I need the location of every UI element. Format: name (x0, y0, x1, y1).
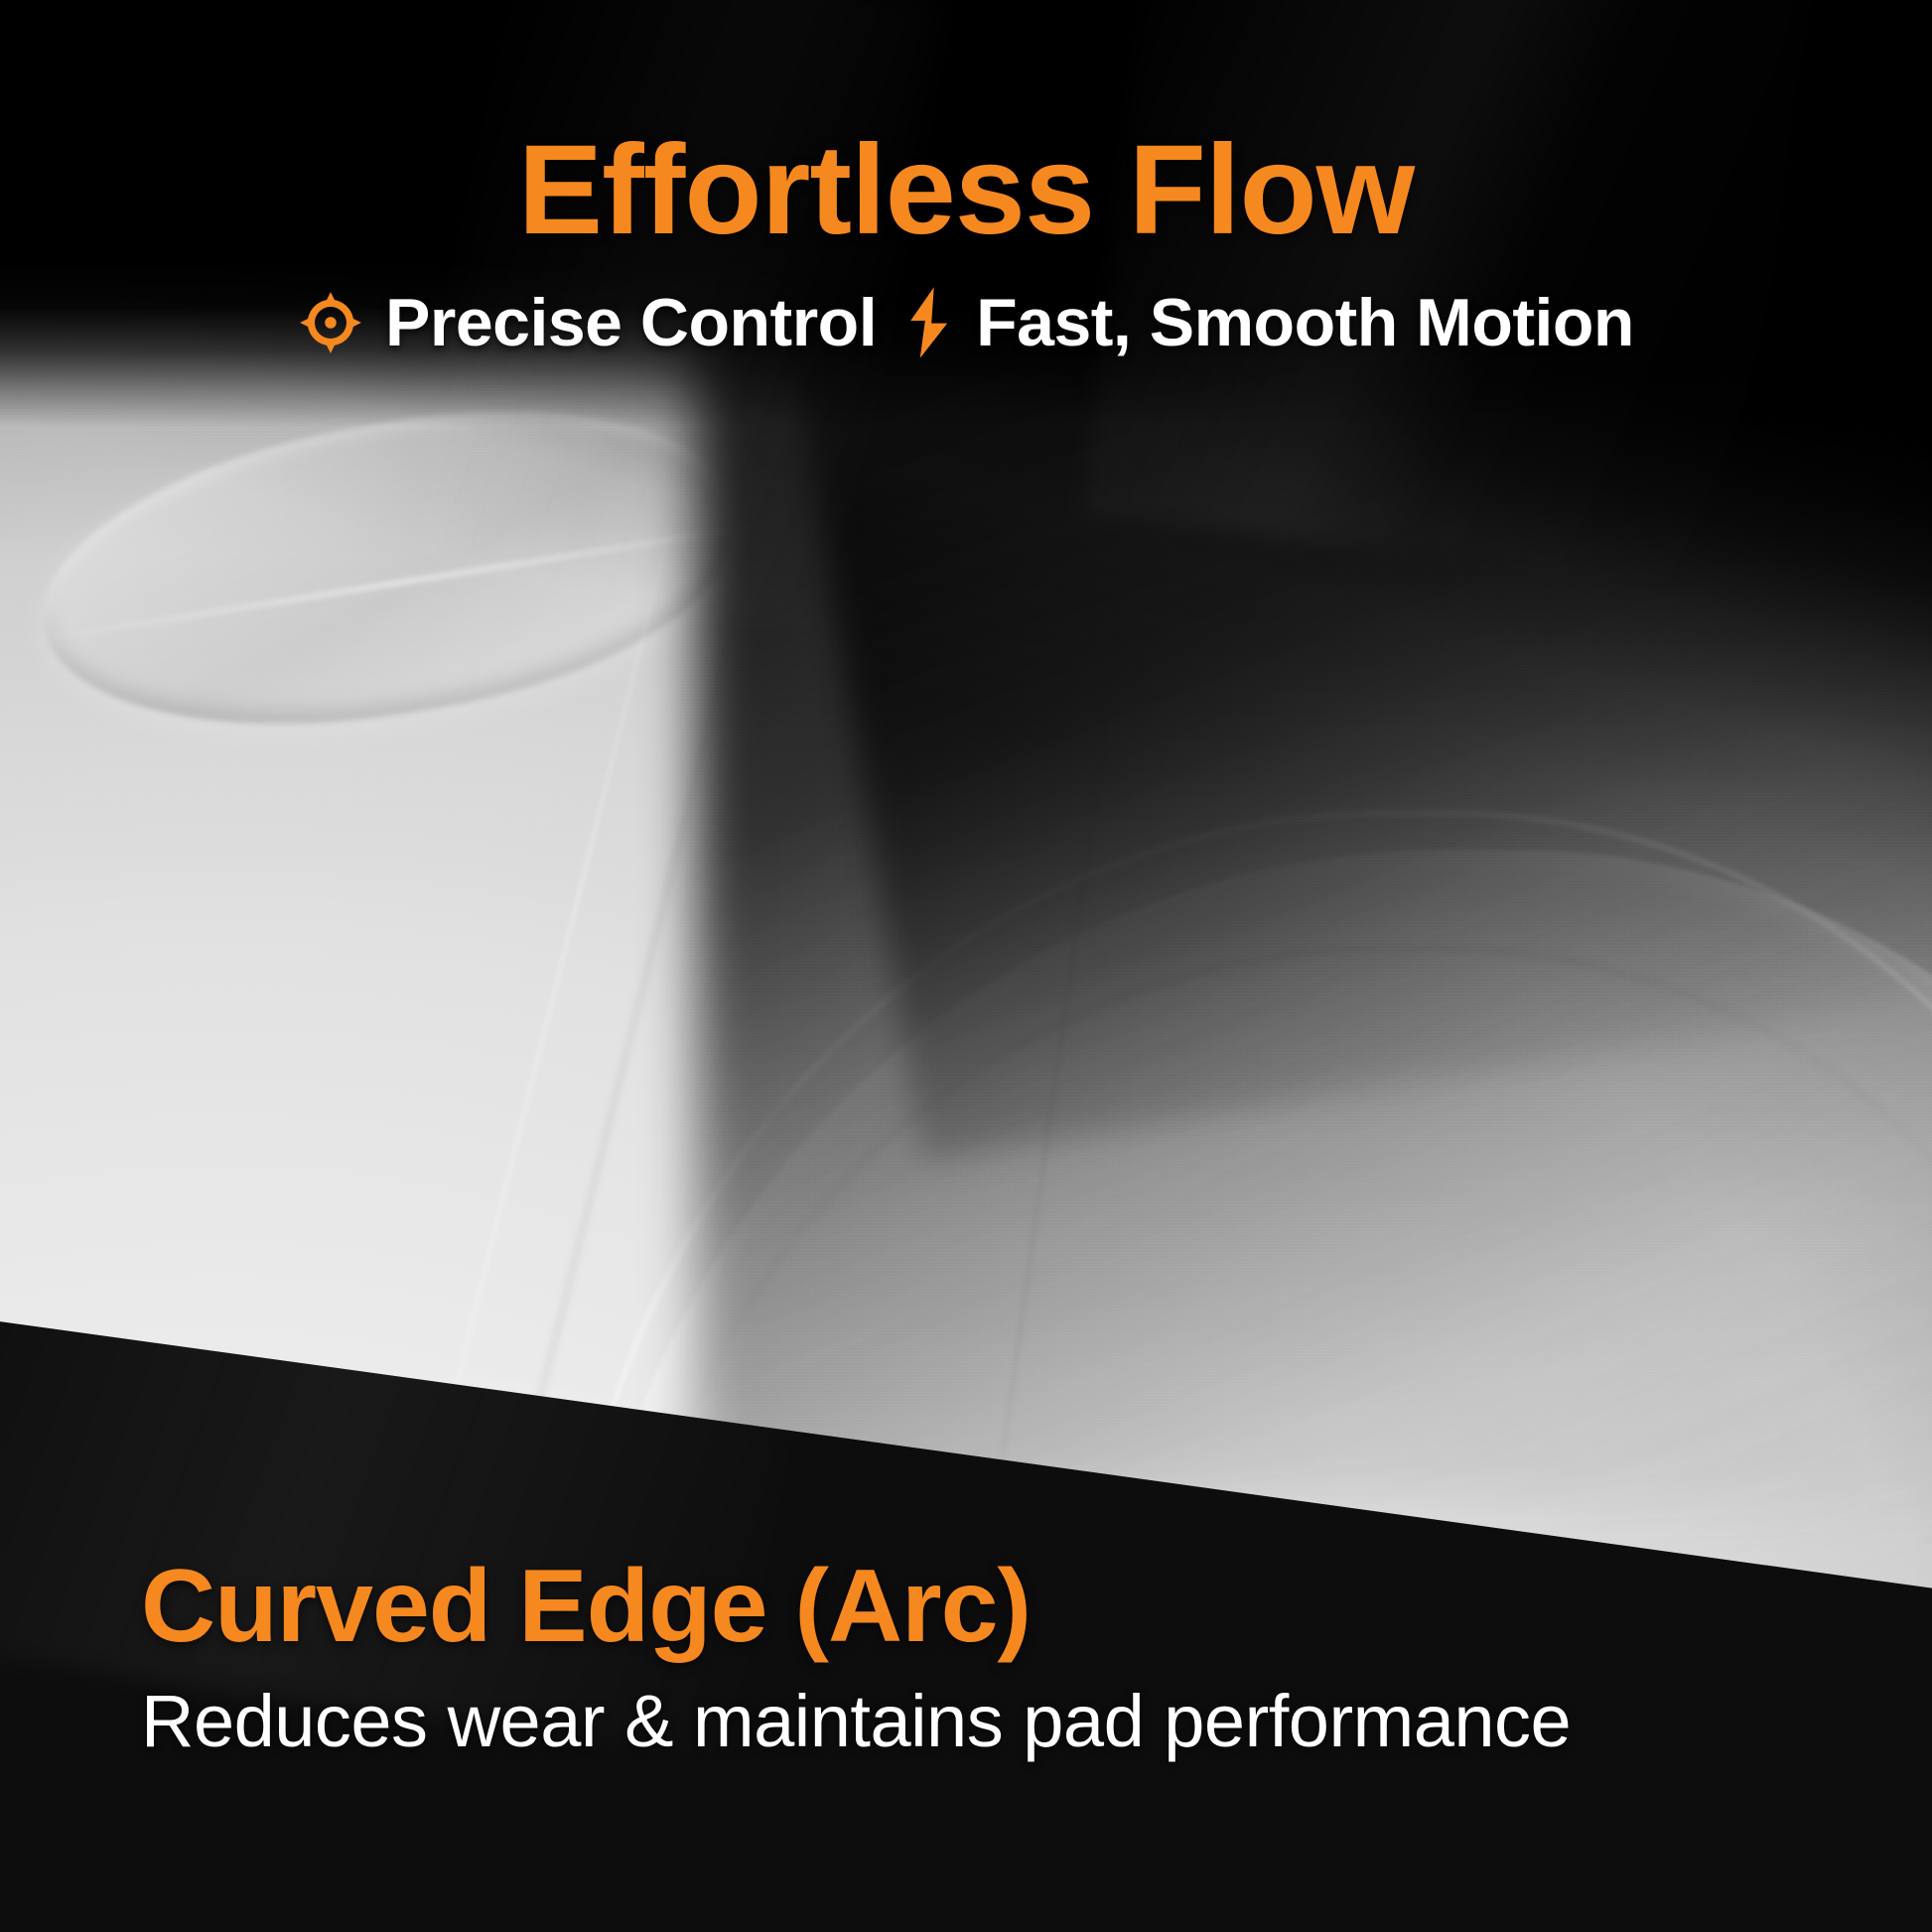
lightning-bolt-icon (902, 286, 954, 359)
footer-block: Curved Edge (Arc) Reduces wear & maintai… (141, 1553, 1571, 1761)
feature-precise-control: Precise Control (298, 289, 877, 356)
headline: Effortless Flow (0, 127, 1932, 254)
text-overlay: Effortless Flow Precis (0, 0, 1932, 1932)
feature-row: Precise Control Fast, Smooth Motion (0, 286, 1932, 359)
crosshair-target-icon (298, 290, 363, 355)
footer-title: Curved Edge (Arc) (141, 1553, 1571, 1660)
footer-subtitle: Reduces wear & maintains pad performance (141, 1682, 1571, 1761)
feature-banner: Effortless Flow Precis (0, 0, 1932, 1932)
feature-label: Fast, Smooth Motion (976, 289, 1634, 356)
feature-fast-smooth-motion: Fast, Smooth Motion (902, 286, 1634, 359)
feature-label: Precise Control (385, 289, 877, 356)
